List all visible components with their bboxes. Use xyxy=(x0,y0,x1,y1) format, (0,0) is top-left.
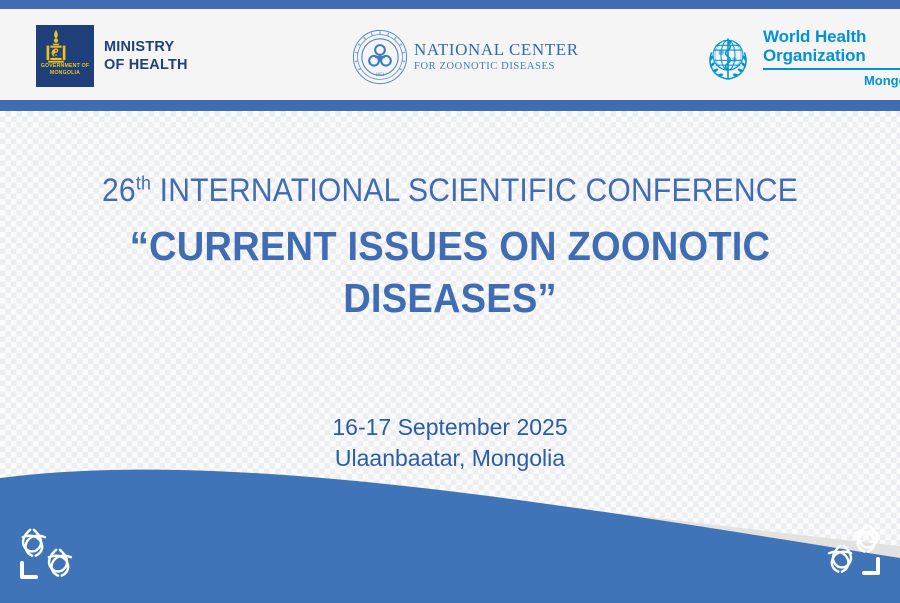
conference-title-slide: GOVERNMENT OF MONGOLIA MINISTRY OF HEALT… xyxy=(0,0,900,603)
conference-theme: “CURRENT ISSUES ON ZOONOTIC DISEASES” xyxy=(32,220,869,324)
conference-heading: 26th INTERNATIONAL SCIENTIFIC CONFERENCE xyxy=(27,170,873,210)
bottom-wave-decoration xyxy=(0,458,900,603)
mongolia-government-emblem: GOVERNMENT OF MONGOLIA xyxy=(36,25,94,87)
national-center-line2: FOR ZOONOTIC DISEASES xyxy=(414,60,579,74)
who-globe-asclepius-icon xyxy=(700,30,756,86)
emblem-caption: GOVERNMENT OF MONGOLIA xyxy=(36,63,94,77)
logo-ministry-of-health: GOVERNMENT OF MONGOLIA MINISTRY OF HEALT… xyxy=(36,25,188,87)
who-country: Mongolia xyxy=(763,73,900,88)
conference-number-suffix: th xyxy=(136,173,151,194)
logo-national-center: 1951 NATIONAL CENTER FOR ZOONOTIC DISEAS… xyxy=(352,29,579,85)
who-name: World Health Organization xyxy=(763,27,900,65)
seal-year: 1951 xyxy=(375,73,385,78)
mongolian-knot-ornament-left xyxy=(14,525,86,585)
top-accent-bar xyxy=(0,0,900,9)
event-date: 16-17 September 2025 xyxy=(0,412,900,443)
emblem-caption-line1: GOVERNMENT OF xyxy=(36,63,94,70)
who-label: World Health Organization Mongolia xyxy=(763,27,900,88)
header-separator-bar xyxy=(0,100,900,111)
logo-row: GOVERNMENT OF MONGOLIA MINISTRY OF HEALT… xyxy=(0,9,900,100)
ministry-of-health-label: MINISTRY OF HEALTH xyxy=(104,38,188,74)
who-divider xyxy=(763,68,900,70)
national-center-line1: NATIONAL CENTER xyxy=(414,40,579,60)
biohazard-seal-icon: 1951 xyxy=(352,29,408,85)
mongolian-knot-ornament-right xyxy=(814,521,886,581)
emblem-caption-line2: MONGOLIA xyxy=(36,70,94,77)
logo-world-health-organization: World Health Organization Mongolia xyxy=(700,27,900,88)
conference-heading-text: INTERNATIONAL SCIENTIFIC CONFERENCE xyxy=(151,172,798,208)
conference-number: 26 xyxy=(102,172,136,208)
national-center-label: NATIONAL CENTER FOR ZOONOTIC DISEASES xyxy=(414,40,579,74)
mongolia-soyombo-icon xyxy=(36,29,76,65)
title-group: 26th INTERNATIONAL SCIENTIFIC CONFERENCE… xyxy=(0,170,900,324)
